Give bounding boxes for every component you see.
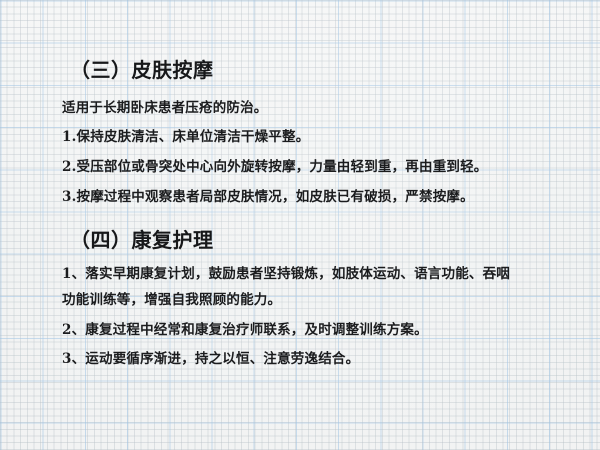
section-heading-rehabilitation-care: （四）康复护理 [70,228,214,252]
section-intro-text: 适用于长期卧床患者压疮的防治。 [62,98,268,118]
list-item: 3、运动要循序渐进，持之以恒、注意劳逸结合。 [62,349,359,369]
document-content: （三）皮肤按摩 适用于长期卧床患者压疮的防治。 1.保持皮肤清洁、床单位清洁干燥… [0,0,600,450]
list-item: 1、落实早期康复计划，鼓励患者坚持锻炼，如肢体运动、语言功能、吞咽功能训练等，增… [62,261,514,313]
list-item: 3.按摩过程中观察患者局部皮肤情况，如皮肤已有破损，严禁按摩。 [62,187,474,207]
list-item: 1.保持皮肤清洁、床单位清洁干燥平整。 [62,127,309,147]
section-heading-skin-massage: （三）皮肤按摩 [70,58,214,82]
document-page: （三）皮肤按摩 适用于长期卧床患者压疮的防治。 1.保持皮肤清洁、床单位清洁干燥… [0,0,600,450]
list-item: 2、康复过程中经常和康复治疗师联系，及时调整训练方案。 [62,320,428,340]
list-item: 2.受压部位或骨突处中心向外旋转按摩，力量由轻到重，再由重到轻。 [62,157,488,177]
